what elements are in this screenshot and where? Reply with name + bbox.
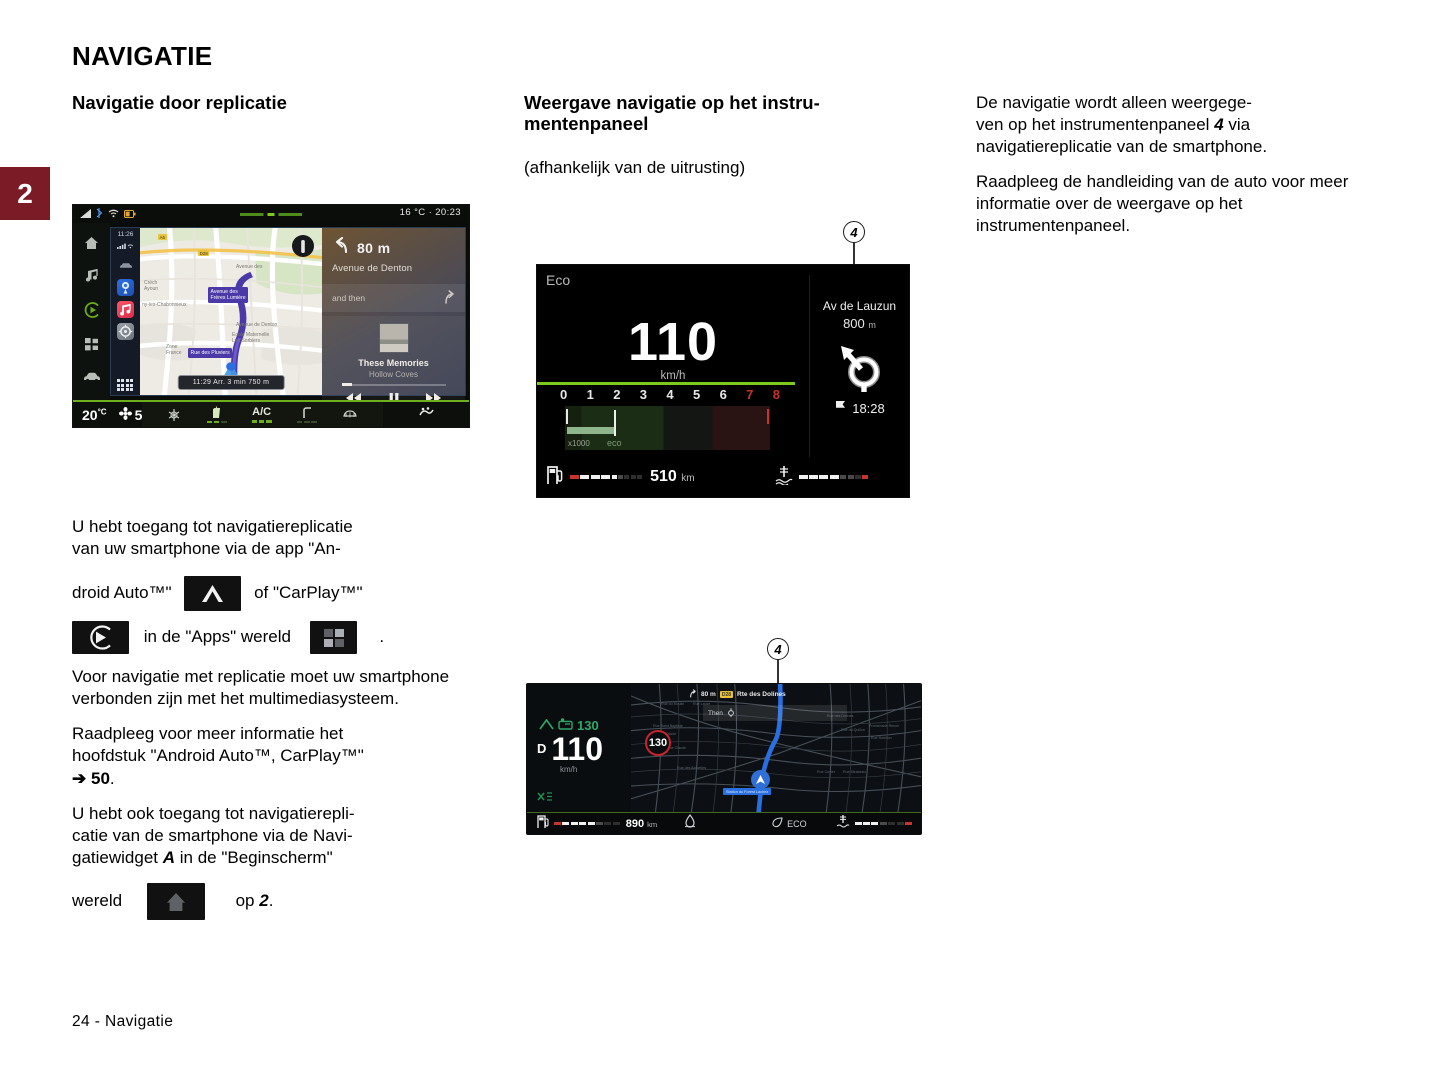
- cluster-nav-eta-row: 18:28: [810, 400, 909, 417]
- leaf-icon: [771, 817, 783, 830]
- paragraph-3-line-1: Raadpleeg voor meer informatie het: [72, 724, 343, 743]
- inline-text-period: .: [379, 627, 384, 646]
- settings-app-icon[interactable]: [117, 323, 134, 340]
- left-column-heading: Navigatie door replicatie: [72, 92, 472, 113]
- fuel-gauge: [570, 475, 642, 479]
- tach-tick: 8: [773, 387, 780, 402]
- cluster-nav-eta: 18:28: [852, 401, 885, 416]
- flag-icon: [834, 400, 847, 417]
- carplay-right-panel: 80 m Avenue de Denton and then These Mem…: [322, 228, 465, 395]
- infotainment-side-rail: [73, 223, 110, 400]
- cluster2-map-text: Rue des Alouettes: [677, 766, 706, 770]
- inline-row-home-widget: wereld op 2.: [72, 883, 474, 920]
- roundabout-icon: [727, 708, 735, 719]
- home-widget-icon: [147, 883, 205, 920]
- and-then-label: and then: [332, 293, 365, 303]
- right-paragraph-1-line-3: navigatiereplicatie van de smartphone.: [976, 137, 1267, 156]
- carplay-map[interactable]: D28 A6 Avenue desFrères Lumière Rue des …: [140, 228, 322, 395]
- home-icon[interactable]: [84, 236, 99, 255]
- tach-tick: 4: [666, 387, 673, 402]
- infotainment-screenshot: 16 °C · 20:23 11:26: [72, 204, 470, 428]
- cluster2-eco-label: ECO: [787, 819, 807, 829]
- tach-tick: 6: [720, 387, 727, 402]
- cluster2-poi-label: Station du Forest Lachez: [723, 788, 771, 795]
- lane-assist-icon: [537, 792, 553, 804]
- cluster2-then-label: Then: [708, 710, 723, 717]
- right-paragraph-1-line-2: ven op het instrumentenpaneel: [976, 115, 1209, 134]
- map-shield: D28: [198, 250, 209, 256]
- ac-button[interactable]: A/C: [252, 406, 272, 423]
- app-grid-icon[interactable]: [117, 379, 133, 391]
- status-separator: ·: [429, 207, 433, 218]
- roundabout-exit-icon: [810, 339, 909, 393]
- status-clock: 20:23: [435, 207, 461, 218]
- cluster2-temp-gauge: [855, 822, 912, 825]
- cluster2-map-text: Rue Robillon: [871, 736, 892, 740]
- and-then-row: and then: [322, 284, 465, 312]
- tach-eco-label: eco: [607, 438, 622, 448]
- middle-column-subnote: (afhankelijk van de uitrusting): [524, 157, 928, 179]
- tach-needle: [614, 410, 616, 436]
- paragraph-3: Raadpleeg voor meer informatie het hoofd…: [72, 723, 474, 789]
- cluster2-gear: D: [537, 741, 546, 756]
- carplay-clock: 11:26: [118, 231, 134, 238]
- right-paragraph-1-via: via: [1228, 115, 1250, 134]
- cluster2-map: Rue du Moulin Rue Saint Baptiste Rue L'E…: [631, 684, 921, 812]
- cluster2-range-value: 890: [626, 818, 644, 830]
- cluster-nav-pane: Av de Lauzun 800 m 18:28: [809, 275, 909, 457]
- turn-right-icon: [443, 290, 456, 306]
- map-text: ZoneFrance: [166, 344, 182, 356]
- carplay-icon[interactable]: [83, 301, 101, 324]
- cluster2-then-row: Then: [703, 705, 847, 721]
- climate-bar: 20°C 5 A/C: [73, 400, 469, 427]
- tach-tick: 7: [746, 387, 753, 402]
- climate-temp-unit: °C: [98, 407, 107, 416]
- cluster-bottom-row: 510 km: [537, 465, 909, 489]
- middle-column-heading: Weergave navigatie op het instru- menten…: [524, 92, 928, 135]
- tach-tick: 5: [693, 387, 700, 402]
- music-app-icon[interactable]: [117, 301, 134, 318]
- callout-number: 4: [767, 638, 789, 660]
- paragraph-3-period: .: [110, 769, 115, 788]
- navigation-arrow-icon: [751, 770, 770, 789]
- inline-text-wereld: wereld: [72, 891, 122, 910]
- infotainment-body: 11:26: [73, 223, 469, 400]
- carplay-side-rail: 11:26: [111, 228, 140, 395]
- tach-fill: [567, 427, 615, 434]
- map-street-label: Avenue desFrères Lumière: [208, 287, 248, 303]
- right-paragraph-2: Raadpleeg de handleiding van de auto voo…: [976, 171, 1376, 237]
- paragraph-1-line-2: van uw smartphone via de app "An-: [72, 539, 341, 558]
- cluster-range: 510 km: [650, 468, 695, 486]
- paragraph-4-line-1: U hebt ook toegang tot navigatierepli-: [72, 804, 355, 823]
- cluster2-fuel-gauge: [554, 822, 620, 825]
- chapter-badge: 2: [0, 167, 50, 220]
- map-shield: A6: [158, 234, 167, 240]
- cluster-nav-distance-unit: m: [868, 320, 876, 330]
- cross-reference-page: 50: [91, 769, 110, 788]
- cluster-range-unit: km: [681, 473, 694, 484]
- fan-speed-value: 5: [135, 407, 143, 423]
- map-street-label: Rue des Pluviers: [188, 348, 232, 358]
- instrument-cluster-map: 130 D 110 km/h: [526, 683, 922, 835]
- tach-tick: 2: [613, 387, 620, 402]
- cluster2-left-pane: 130 D 110 km/h: [527, 684, 631, 812]
- cluster2-map-text: Rue du Quillon: [841, 728, 865, 732]
- paragraph-4-line-3-after: in de "Beginscherm": [180, 848, 333, 867]
- ac-label: A/C: [252, 406, 271, 418]
- cluster2-speed-block: D 110: [537, 735, 631, 764]
- page-title: NAVIGATIE: [72, 41, 212, 72]
- left-column-body: U hebt toegang tot navigatiereplicatie v…: [72, 516, 474, 920]
- album-art: [379, 323, 409, 353]
- cluster-range-value: 510: [650, 468, 677, 485]
- cluster-mode-label: Eco: [546, 272, 570, 288]
- tach-redline-mark: [767, 409, 769, 424]
- instrument-cluster-classic: Eco 110 km/h 0 1 2 3 4 5 6 7 8 x1000 eco…: [536, 264, 910, 498]
- middle-heading-line-2: mentenpaneel: [524, 113, 648, 134]
- callout-number: 4: [843, 221, 865, 243]
- speed-camera-icon: [292, 235, 314, 257]
- cluster-nav-distance-value: 800: [843, 316, 865, 331]
- tach-tick: 1: [587, 387, 594, 402]
- inline-row-carplay-apps: in de "Apps" wereld .: [72, 621, 474, 654]
- inline-row-android-auto: droid Auto™" of "CarPlay™": [72, 576, 474, 611]
- climate-temperature[interactable]: 20°C: [82, 407, 107, 423]
- tach-tick: 0: [560, 387, 567, 402]
- cluster2-bottom-bar: 890 km ECO: [527, 812, 921, 834]
- tachometer-bar: x1000 eco: [565, 406, 770, 450]
- media-artist: Hollow Coves: [369, 370, 418, 379]
- middle-heading-line-1: Weergave navigatie op het instru-: [524, 92, 820, 113]
- car-icon[interactable]: [83, 369, 101, 387]
- status-temp-clock: 16 °C · 20:23: [400, 207, 461, 218]
- tach-tick: 3: [640, 387, 647, 402]
- fan-icon: [119, 407, 132, 423]
- cluster2-banner-street: Rte des Dolines: [737, 691, 786, 698]
- cluster2-eco: ECO: [771, 817, 807, 830]
- right-column: De navigatie wordt alleen weergege- ven …: [976, 92, 1376, 251]
- paragraph-2: Voor navigatie met replicatie moet uw sm…: [72, 666, 474, 710]
- inline-text-droid-auto: droid Auto™": [72, 583, 172, 602]
- media-title: These Memories: [358, 358, 429, 368]
- cluster2-banner-shield: D28: [720, 691, 733, 699]
- seat-icon[interactable]: [297, 406, 317, 424]
- cluster2-guidance-banner: 80 m D28 Rte des Dolines: [689, 689, 786, 700]
- cluster2-map-text: Rue du Moulin: [661, 702, 684, 706]
- coolant-temp-gauge: [799, 475, 869, 479]
- inline-text-of-carplay: of "CarPlay™": [254, 583, 362, 602]
- cluster2-map-text: Rue Mirabeau: [843, 770, 866, 774]
- bluetooth-icon: [96, 205, 103, 223]
- map-text: Avenue des: [236, 264, 262, 270]
- signal-icon: [80, 205, 91, 223]
- recirculation-icon[interactable]: [417, 406, 435, 424]
- map-text: ny-les-Chabonnieux: [142, 302, 186, 308]
- apps-grid-icon[interactable]: [85, 338, 99, 356]
- left-column: Navigatie door replicatie: [72, 92, 472, 113]
- turn-right-icon: [689, 689, 697, 700]
- cluster2-speed-value: 110: [551, 735, 603, 764]
- middle-column: Weergave navigatie op het instru- menten…: [524, 92, 928, 192]
- media-card[interactable]: These Memories Hollow Coves: [322, 316, 465, 408]
- page-footer: 24 - Navigatie: [72, 1013, 173, 1031]
- fuel-pump-icon: [536, 814, 549, 834]
- paragraph-1-line-1: U hebt toegang tot navigatiereplicatie: [72, 517, 353, 536]
- carplay-car-icon: [119, 256, 133, 274]
- coolant-temp-icon: [775, 465, 793, 490]
- inline-text-period-2: .: [269, 891, 274, 910]
- music-icon[interactable]: [85, 268, 98, 287]
- cluster-nav-street: Av de Lauzun: [810, 299, 909, 313]
- tach-zero-mark: [566, 409, 568, 424]
- fuel-pump-icon: [546, 465, 563, 490]
- defrost-icon[interactable]: [167, 408, 181, 422]
- paragraph-1: U hebt toegang tot navigatiereplicatie v…: [72, 516, 474, 560]
- paragraph-4: U hebt ook toegang tot navigatierepli- c…: [72, 803, 474, 869]
- seat-heater-icon[interactable]: [207, 406, 227, 424]
- cluster-reference-4: 4: [1214, 115, 1223, 134]
- cluster2-map-text: Rue Saint Baptiste: [653, 724, 683, 728]
- cross-reference-arrow-icon: ➔: [72, 769, 86, 788]
- tach-scale-label: x1000: [568, 439, 590, 448]
- guidance-card: 80 m Avenue de Denton: [322, 228, 465, 277]
- carplay-replication-pane[interactable]: 11:26: [110, 227, 466, 396]
- map-text: Avenue de Denton: [236, 322, 277, 328]
- rear-defrost-icon[interactable]: [342, 409, 358, 420]
- carplay-status-icons: [117, 243, 135, 251]
- media-progress-bar[interactable]: [342, 384, 446, 386]
- right-paragraph-1: De navigatie wordt alleen weergege- ven …: [976, 92, 1376, 158]
- cluster2-banner-distance: 80 m: [701, 691, 716, 698]
- cluster-speed-unit: km/h: [537, 370, 809, 382]
- right-paragraph-1-line-1: De navigatie wordt alleen weergege-: [976, 93, 1252, 112]
- coolant-temp-icon: [836, 814, 850, 834]
- paragraph-3-line-2: hoofdstuk "Android Auto™, CarPlay™": [72, 746, 364, 765]
- widget-reference-a: A: [163, 848, 175, 867]
- wifi-icon: [108, 205, 119, 223]
- tachometer-ticks: 0 1 2 3 4 5 6 7 8: [560, 387, 780, 402]
- cluster2-map-text: Promenade Renoir: [869, 724, 899, 728]
- speed-limit-sign: 130: [645, 730, 671, 756]
- adblue-icon: [683, 814, 697, 833]
- inline-text-op: op: [236, 891, 255, 910]
- paragraph-4-line-3-before: gatiewidget: [72, 848, 158, 867]
- cluster2-range: 890 km: [626, 818, 657, 830]
- battery-icon: [124, 205, 136, 223]
- guidance-distance: 80 m: [357, 240, 391, 256]
- cluster2-temp-group: [836, 814, 912, 834]
- apps-grid-icon: [310, 621, 357, 654]
- map-text: Ecole MaternelleLes Sorbiers: [232, 332, 269, 344]
- inline-text-in-apps-wereld: in de "Apps" wereld: [144, 627, 291, 646]
- status-temperature: 16 °C: [400, 207, 426, 218]
- carplay-icon: [72, 621, 129, 654]
- eta-pill: 11:29 Arr. 3 min 750 m: [178, 375, 285, 390]
- cluster2-range-unit: km: [647, 820, 657, 829]
- map-text: CréchAyoun: [144, 280, 158, 292]
- cluster-nav-distance: 800 m: [810, 316, 909, 331]
- cluster-accent-line: [537, 382, 795, 385]
- turn-left-icon: [332, 237, 350, 258]
- screen-reference-2: 2: [259, 891, 268, 910]
- climate-temp-value: 20: [82, 407, 98, 423]
- infotainment-status-bar: 16 °C · 20:23: [73, 205, 469, 223]
- android-auto-icon: [184, 576, 241, 611]
- climate-fan[interactable]: 5: [119, 407, 143, 423]
- paragraph-4-line-2: catie van de smartphone via de Navi-: [72, 826, 353, 845]
- cluster-speed-value: 110: [537, 317, 809, 368]
- status-center-indicator: [240, 213, 302, 216]
- cluster-speed-block: 110 km/h: [537, 317, 809, 382]
- cluster2-map-text: Rue Cuvier: [817, 770, 835, 774]
- maps-app-icon[interactable]: [117, 279, 134, 296]
- guidance-street: Avenue de Denton: [332, 263, 456, 274]
